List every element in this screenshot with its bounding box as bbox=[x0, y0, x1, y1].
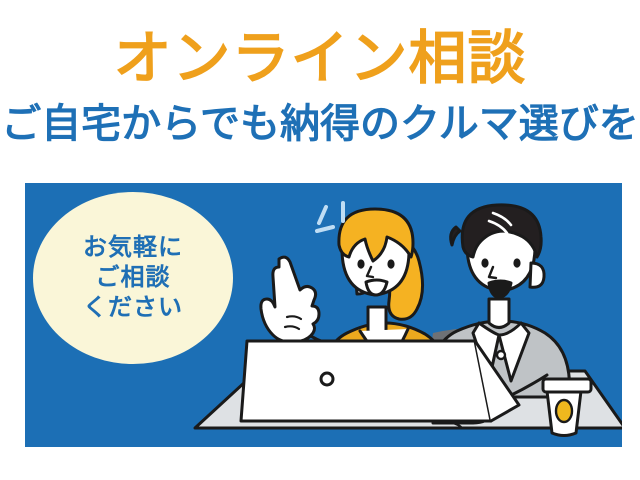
page-title: オンライン相談 bbox=[0, 30, 640, 88]
illustration-panel: お気軽に ご相談 ください bbox=[25, 183, 622, 447]
page-subtitle: ご自宅からでも納得のクルマ選びを bbox=[0, 104, 640, 144]
online-consultation-banner: オンライン相談 ご自宅からでも納得のクルマ選びを bbox=[0, 0, 640, 480]
bubble-line-1: お気軽に bbox=[83, 234, 183, 262]
bubble-line-2: ご相談 bbox=[96, 264, 171, 292]
bubble-line-3: ください bbox=[83, 294, 183, 322]
speech-bubble-text: お気軽に ご相談 ください bbox=[33, 192, 233, 364]
